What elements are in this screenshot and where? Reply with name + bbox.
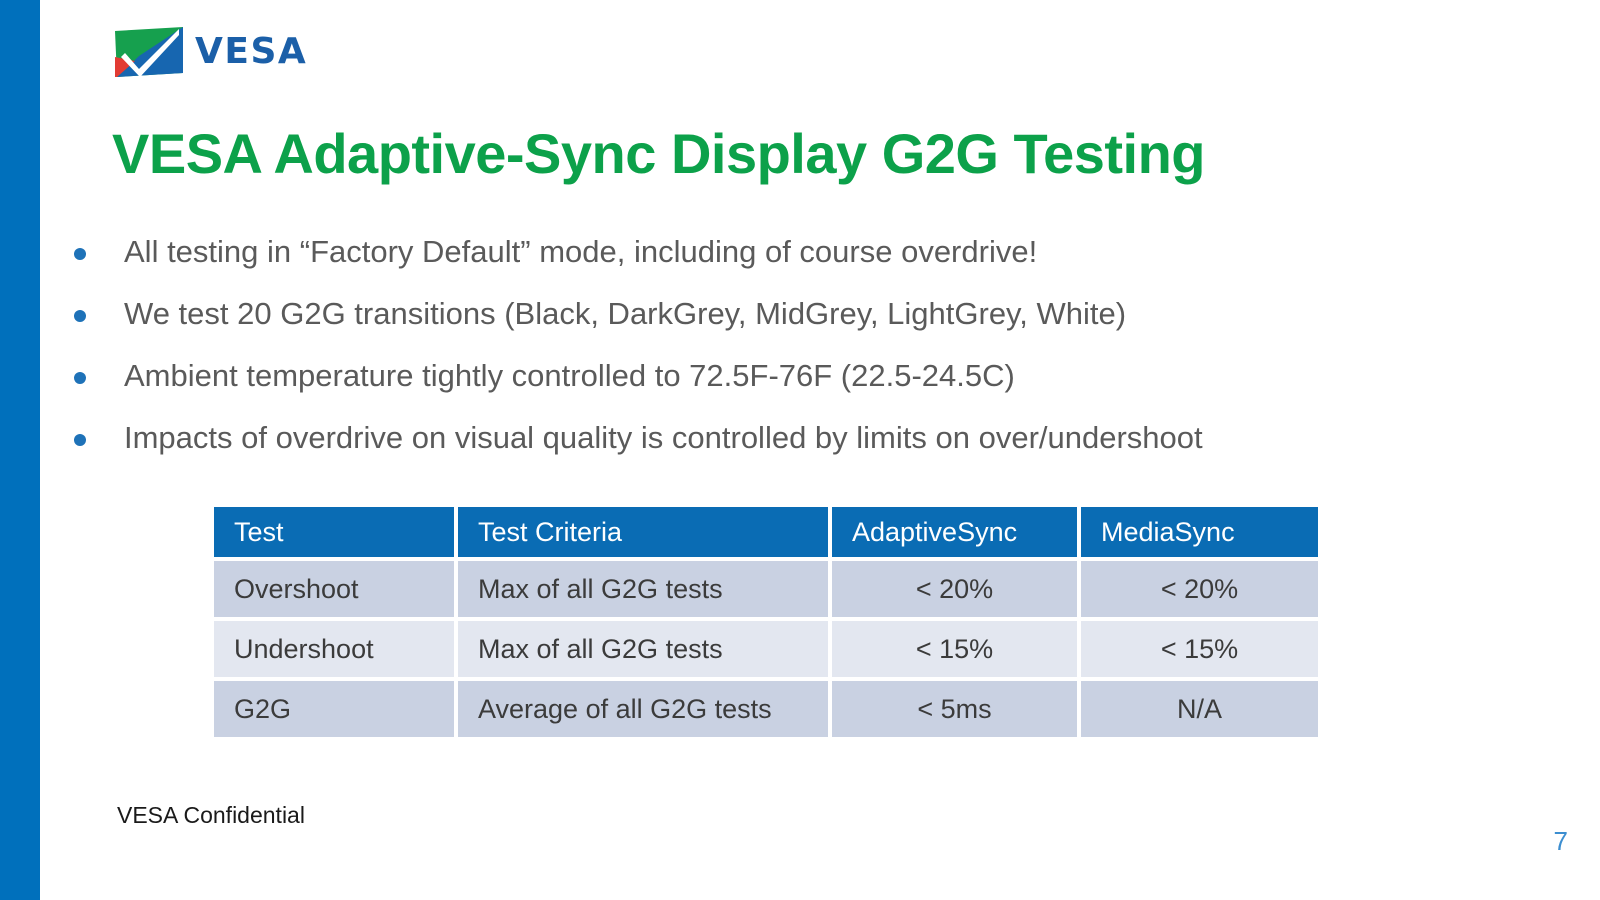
bullet-list: All testing in “Factory Default” mode, i… (56, 232, 1536, 480)
list-item: Ambient temperature tightly controlled t… (56, 356, 1536, 418)
cell-adaptivesync: < 15% (832, 621, 1077, 677)
column-header-mediasync: MediaSync (1081, 507, 1318, 557)
cell-mediasync: < 20% (1081, 561, 1318, 617)
page-title: VESA Adaptive-Sync Display G2G Testing (112, 122, 1512, 186)
table-body: Overshoot Max of all G2G tests < 20% < 2… (214, 561, 1318, 737)
table-row: Undershoot Max of all G2G tests < 15% < … (214, 621, 1318, 677)
column-header-test-criteria: Test Criteria (458, 507, 828, 557)
bullet-text: Impacts of overdrive on visual quality i… (124, 418, 1203, 458)
cell-test: Overshoot (214, 561, 454, 617)
column-header-test: Test (214, 507, 454, 557)
cell-mediasync: N/A (1081, 681, 1318, 737)
vesa-logo: VESA (113, 24, 293, 80)
bullet-dot-icon (74, 310, 86, 322)
test-criteria-table: Test Test Criteria AdaptiveSync MediaSyn… (210, 503, 1322, 741)
cell-test: Undershoot (214, 621, 454, 677)
cell-adaptivesync: < 20% (832, 561, 1077, 617)
table-header: Test Test Criteria AdaptiveSync MediaSyn… (214, 507, 1318, 557)
list-item: Impacts of overdrive on visual quality i… (56, 418, 1536, 480)
bullet-dot-icon (74, 434, 86, 446)
cell-mediasync: < 15% (1081, 621, 1318, 677)
cell-criteria: Max of all G2G tests (458, 561, 828, 617)
table-header-row: Test Test Criteria AdaptiveSync MediaSyn… (214, 507, 1318, 557)
left-accent-bar (0, 0, 40, 900)
list-item: We test 20 G2G transitions (Black, DarkG… (56, 294, 1536, 356)
bullet-text: We test 20 G2G transitions (Black, DarkG… (124, 294, 1126, 334)
page-number: 7 (1554, 826, 1568, 857)
column-header-adaptivesync: AdaptiveSync (832, 507, 1077, 557)
bullet-dot-icon (74, 248, 86, 260)
bullet-dot-icon (74, 372, 86, 384)
bullet-text: All testing in “Factory Default” mode, i… (124, 232, 1037, 272)
vesa-checkmark-icon (113, 27, 185, 77)
cell-criteria: Average of all G2G tests (458, 681, 828, 737)
vesa-wordmark: VESA (195, 34, 307, 70)
cell-criteria: Max of all G2G tests (458, 621, 828, 677)
cell-test: G2G (214, 681, 454, 737)
bullet-text: Ambient temperature tightly controlled t… (124, 356, 1015, 396)
table-row: G2G Average of all G2G tests < 5ms N/A (214, 681, 1318, 737)
list-item: All testing in “Factory Default” mode, i… (56, 232, 1536, 294)
table-row: Overshoot Max of all G2G tests < 20% < 2… (214, 561, 1318, 617)
confidential-note: VESA Confidential (117, 802, 305, 829)
cell-adaptivesync: < 5ms (832, 681, 1077, 737)
slide-canvas: VESA VESA Adaptive-Sync Display G2G Test… (0, 0, 1600, 900)
